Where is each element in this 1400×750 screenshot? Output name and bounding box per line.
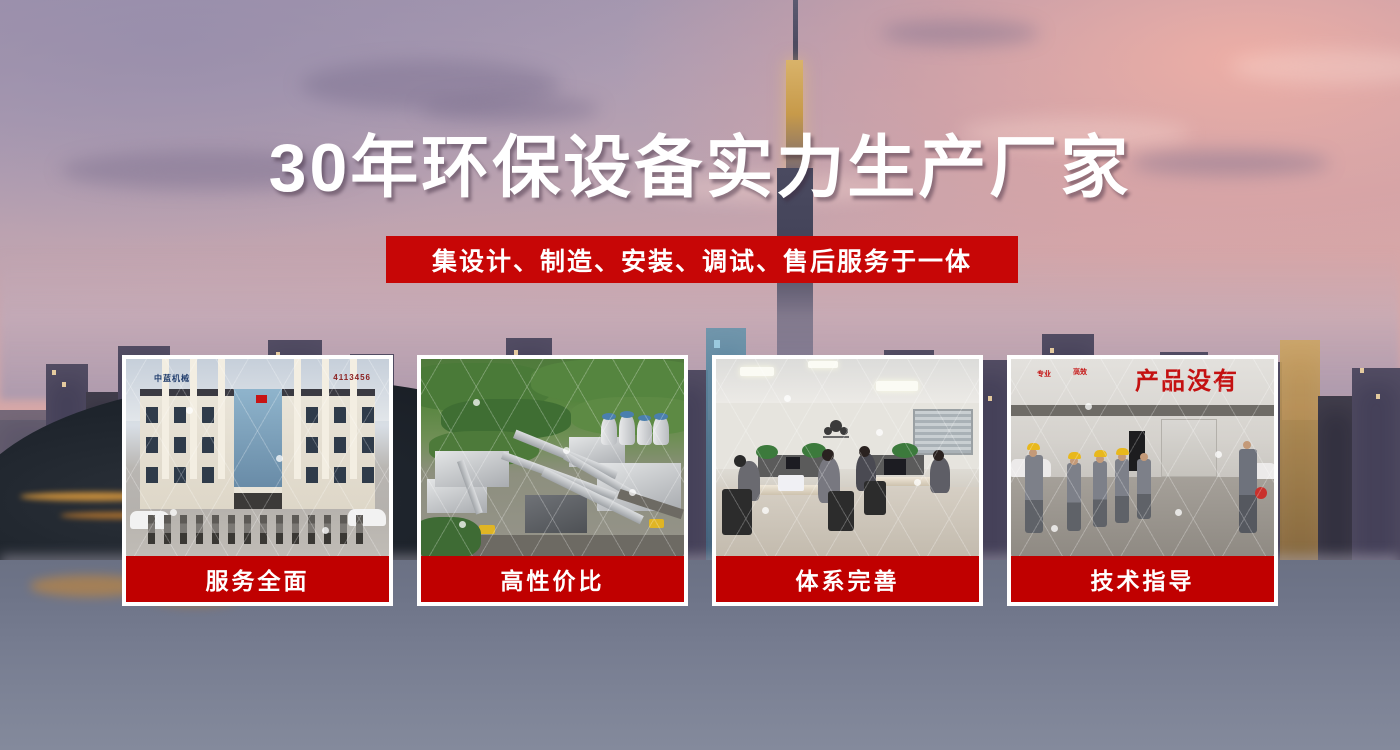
- feature-card-list: 中蓝机械 4113456 服务全面: [122, 355, 1278, 606]
- factory-workers-training-photo: 产品没有 专业 高效: [1011, 359, 1274, 556]
- banner-content: 30年环保设备实力生产厂家 集设计、制造、安装、调试、售后服务于一体: [0, 0, 1400, 750]
- subtitle-banner: 集设计、制造、安装、调试、售后服务于一体: [386, 236, 1018, 283]
- building-phone-text: 4113456: [333, 373, 371, 382]
- office-interior-staff-photo: [716, 359, 979, 556]
- page-title: 30年环保设备实力生产厂家: [0, 134, 1400, 202]
- wall-logo-icon: [816, 415, 856, 443]
- factory-wall-large-text: 产品没有: [1135, 361, 1239, 396]
- card-caption: 体系完善: [716, 556, 979, 602]
- company-headquarters-building-photo: 中蓝机械 4113456: [126, 359, 389, 556]
- feature-card-service[interactable]: 中蓝机械 4113456 服务全面: [122, 355, 393, 606]
- subtitle-text: 集设计、制造、安装、调试、售后服务于一体: [432, 242, 972, 278]
- building-sign-text: 中蓝机械: [154, 373, 190, 384]
- feature-card-system[interactable]: 体系完善: [712, 355, 983, 606]
- card-caption: 技术指导: [1011, 556, 1274, 602]
- card-caption: 高性价比: [421, 556, 684, 602]
- card-caption: 服务全面: [126, 556, 389, 602]
- aerial-industrial-plant-photo: [421, 359, 684, 556]
- feature-card-guidance[interactable]: 产品没有 专业 高效: [1007, 355, 1278, 606]
- factory-wall-small-text-1: 专业: [1037, 371, 1051, 379]
- feature-card-value[interactable]: 高性价比: [417, 355, 688, 606]
- factory-wall-small-text-2: 高效: [1073, 369, 1087, 377]
